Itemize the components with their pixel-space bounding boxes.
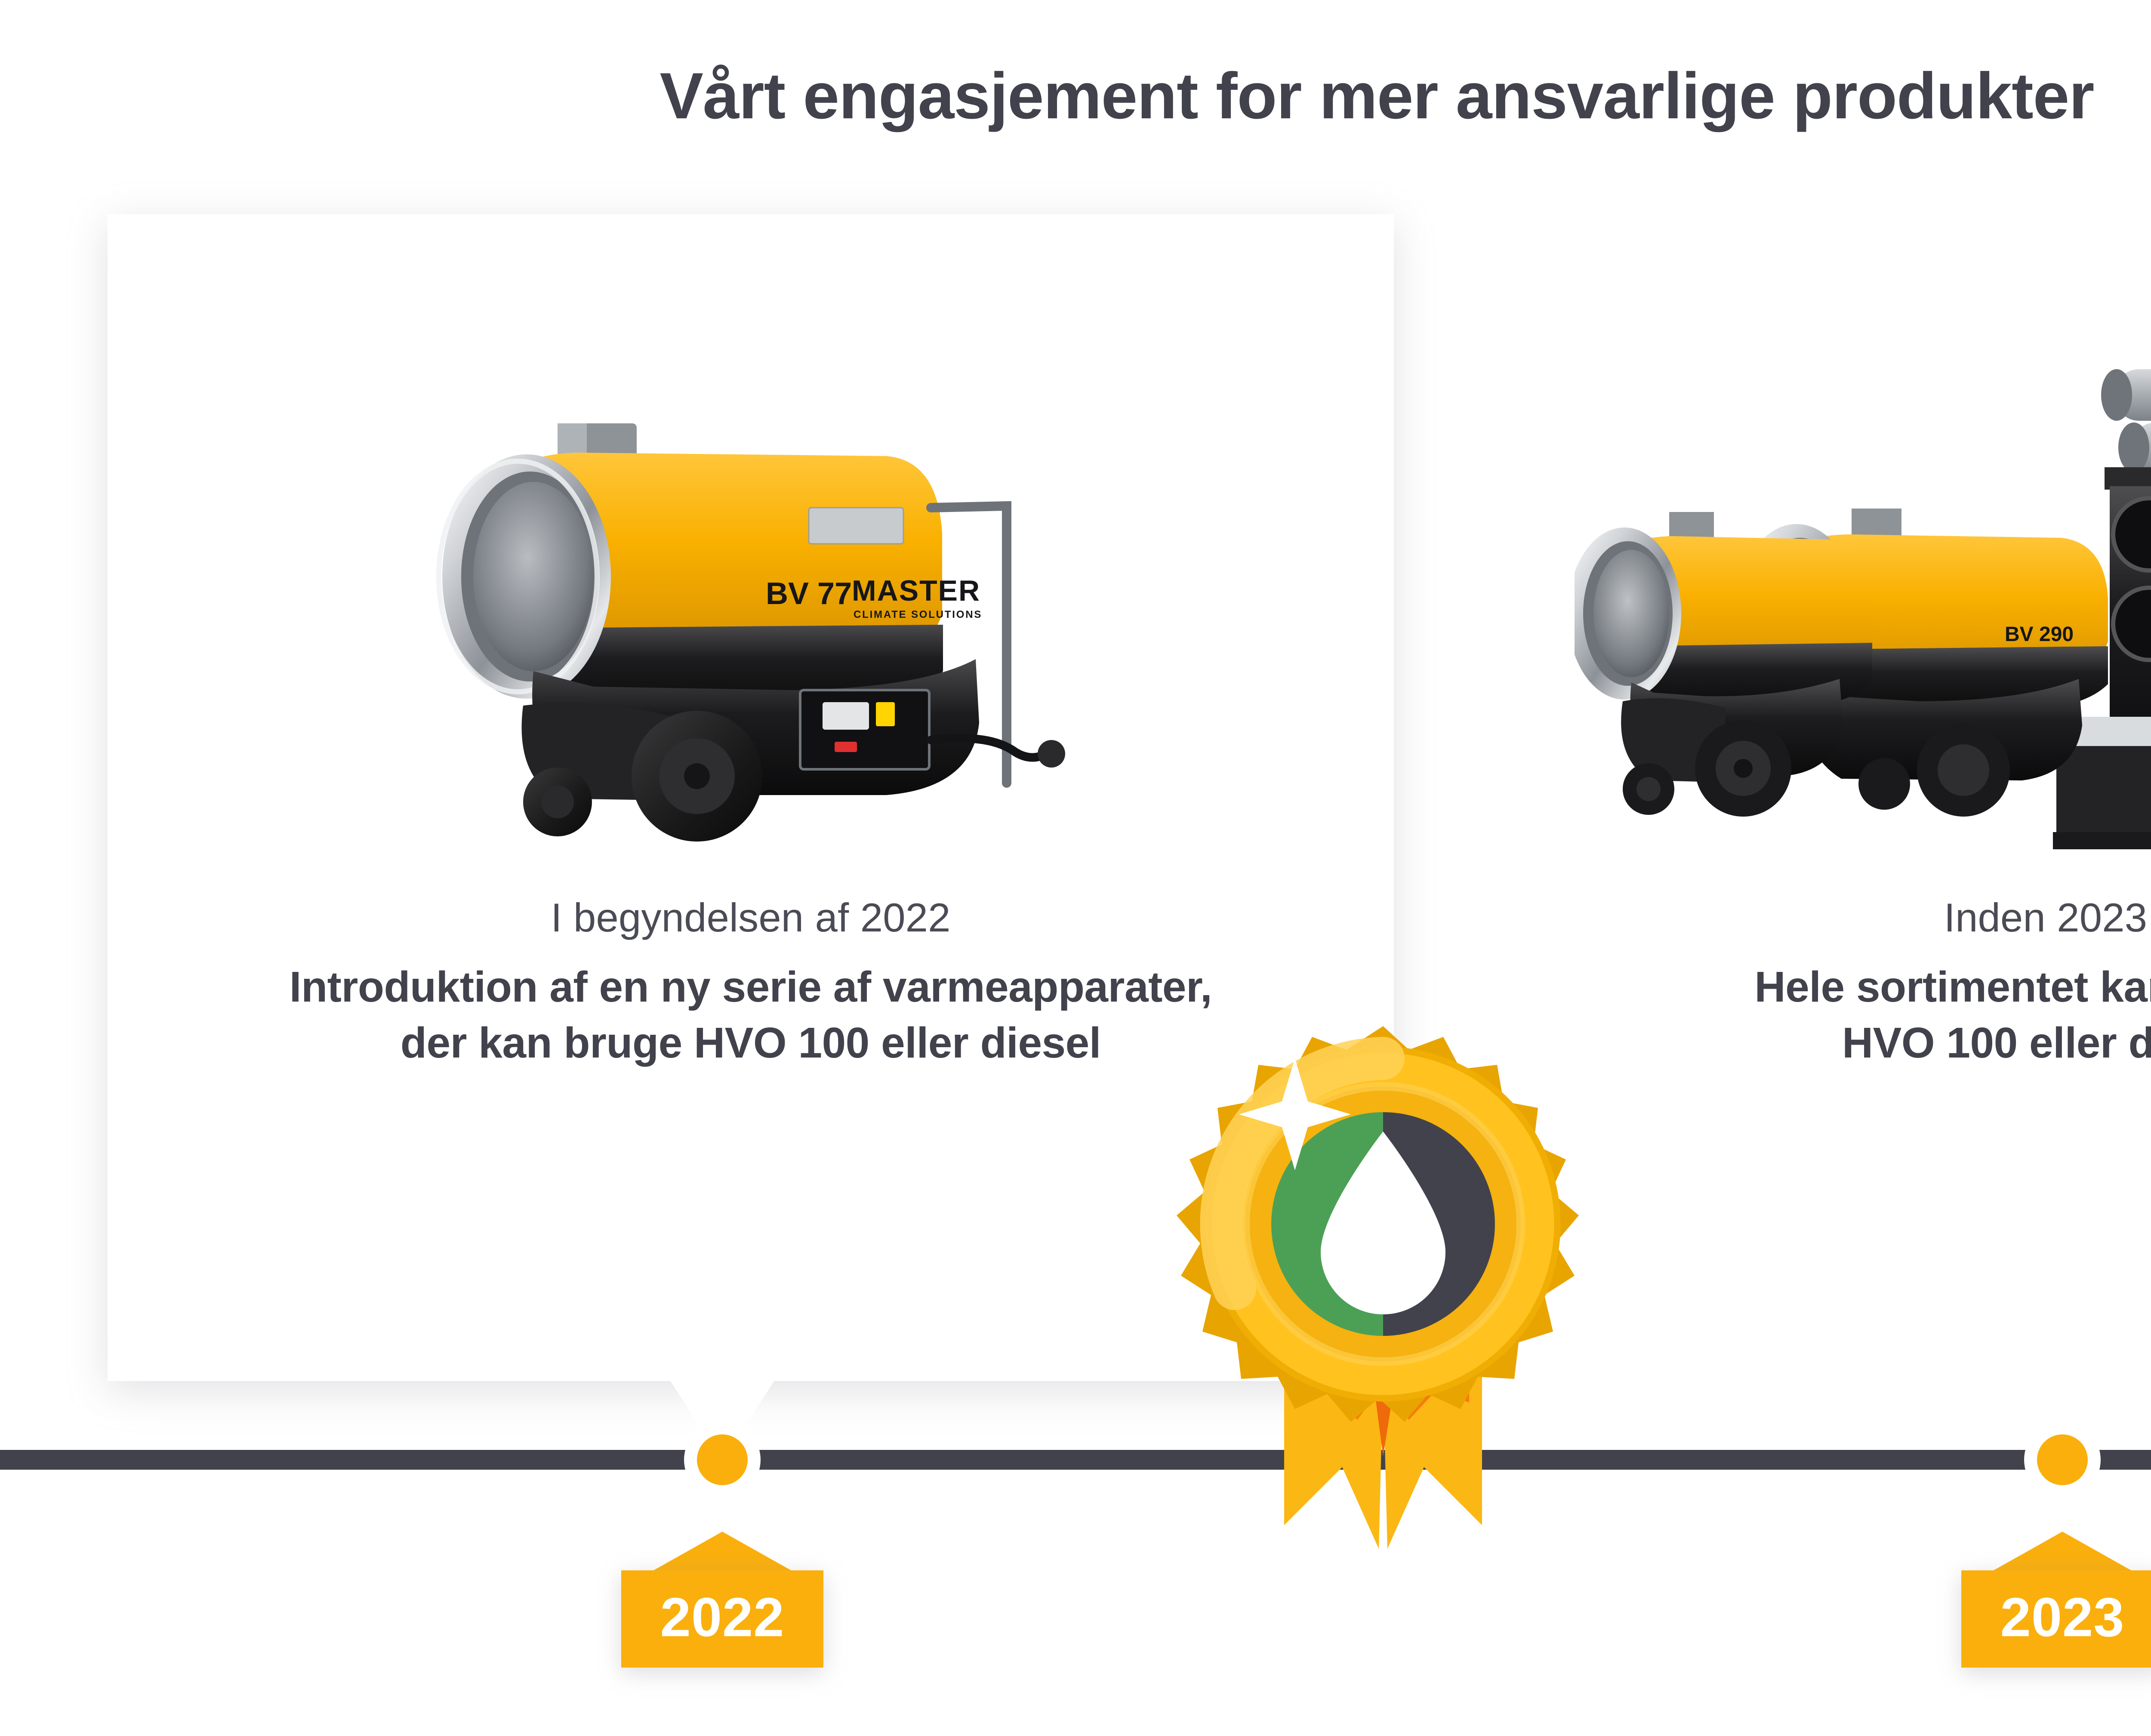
timeline-node-2023[interactable] — [2037, 1434, 2088, 1485]
eco-fuel-award-badge-icon — [1157, 1020, 1609, 1596]
svg-text:BV 290: BV 290 — [2005, 623, 2074, 646]
year-badge-2023-arrow — [1994, 1532, 2131, 1570]
year-badge-2022[interactable]: 2022 — [621, 1532, 823, 1668]
timeline-node-2022[interactable] — [697, 1434, 748, 1485]
svg-text:MASTER: MASTER — [852, 574, 980, 607]
year-badge-2023[interactable]: 2023 — [1961, 1532, 2151, 1668]
milestone-eyebrow-2023: Inden 2023 — [1471, 895, 2151, 940]
year-badge-2023-label: 2023 — [1961, 1570, 2151, 1668]
product-image-bv-77: MASTER CLIMATE SOLUTIONS BV 77 — [404, 413, 1110, 843]
product-image-bv-471-group: MASTER CLIMATE SOLUTIONS AIR - BUS BV 47… — [1575, 340, 2151, 856]
milestone-eyebrow-2022: I begyndelsen af 2022 — [129, 895, 1372, 940]
infographic-canvas: Vårt engasjement for mer ansvarlige prod… — [0, 0, 2151, 1736]
page-title: Vårt engasjement for mer ansvarlige prod… — [0, 60, 2151, 132]
svg-text:BV 77: BV 77 — [766, 577, 852, 611]
svg-text:CLIMATE SOLUTIONS: CLIMATE SOLUTIONS — [854, 609, 982, 620]
year-badge-2022-arrow — [653, 1532, 791, 1570]
year-badge-2022-label: 2022 — [621, 1570, 823, 1668]
timeline-axis — [0, 1450, 2151, 1470]
